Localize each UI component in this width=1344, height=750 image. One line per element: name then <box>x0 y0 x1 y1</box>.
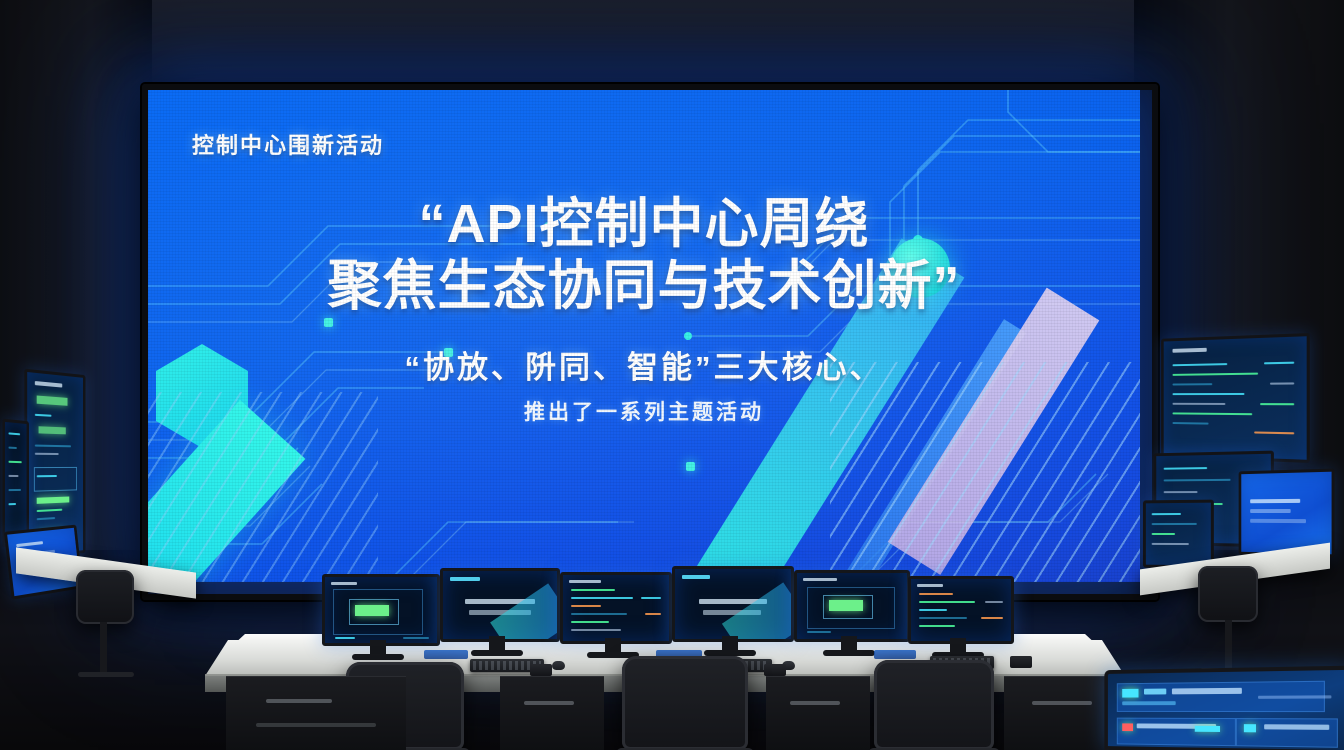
side-monitor-left-edge <box>2 419 29 548</box>
wall-headline-line-2: 聚焦生态协同与技术创新” <box>208 256 1080 318</box>
node-dot-icon <box>686 462 695 471</box>
wall-eyebrow-text: 控制中心围新活动 <box>192 128 384 160</box>
desk-cabinet-mid-1 <box>500 676 604 750</box>
diagonal-stripes-bottom-right <box>830 362 1140 582</box>
wall-headline-line-1: “API控制中心周绕 <box>418 194 869 254</box>
chair-post <box>100 622 107 674</box>
chair-3 <box>874 660 994 750</box>
workstation-monitor-6 <box>908 576 1008 638</box>
desk-cabinet-left <box>226 676 406 750</box>
workstation-monitor-2 <box>440 568 554 636</box>
screenshot-root: 控制中心围新活动 “API控制中心周绕 聚焦生态协同与技术创新” “协放、阩同、… <box>0 0 1344 750</box>
foreground-dashboard-monitor <box>1104 666 1344 750</box>
node-dot-icon <box>324 318 333 327</box>
workstation-monitor-1 <box>322 574 434 640</box>
side-monitor-right-small <box>1143 500 1214 569</box>
desk-phone-1[interactable] <box>530 664 552 676</box>
chair-2 <box>622 656 748 750</box>
chair-wheels <box>78 672 134 677</box>
chair-right-side <box>1198 566 1258 622</box>
desk-phone-3[interactable] <box>1010 656 1032 668</box>
led-video-wall: 控制中心围新活动 “API控制中心周绕 聚焦生态协同与技术创新” “协放、阩同、… <box>148 90 1140 582</box>
workstation-monitor-5 <box>794 570 904 636</box>
workstation-monitor-4 <box>672 566 788 636</box>
desk-phone-2[interactable] <box>764 664 786 676</box>
desk-cabinet-mid-2 <box>766 676 870 750</box>
mouse-1[interactable] <box>552 661 565 670</box>
chair-left-side <box>76 570 134 624</box>
side-monitor-right-top <box>1161 333 1310 463</box>
wall-subtitle-line-1: “协放、阩同、智能”三大核心、 <box>148 342 1140 387</box>
chair-post <box>1225 620 1232 670</box>
wall-headline: “API控制中心周绕 聚焦生态协同与技术创新” <box>148 194 1140 317</box>
wall-subtitle-line-2: 推出了一系列主题活动 <box>148 396 1140 426</box>
desk-mat <box>874 650 916 659</box>
desk-mat <box>424 650 468 659</box>
workstation-monitor-3 <box>560 572 666 638</box>
